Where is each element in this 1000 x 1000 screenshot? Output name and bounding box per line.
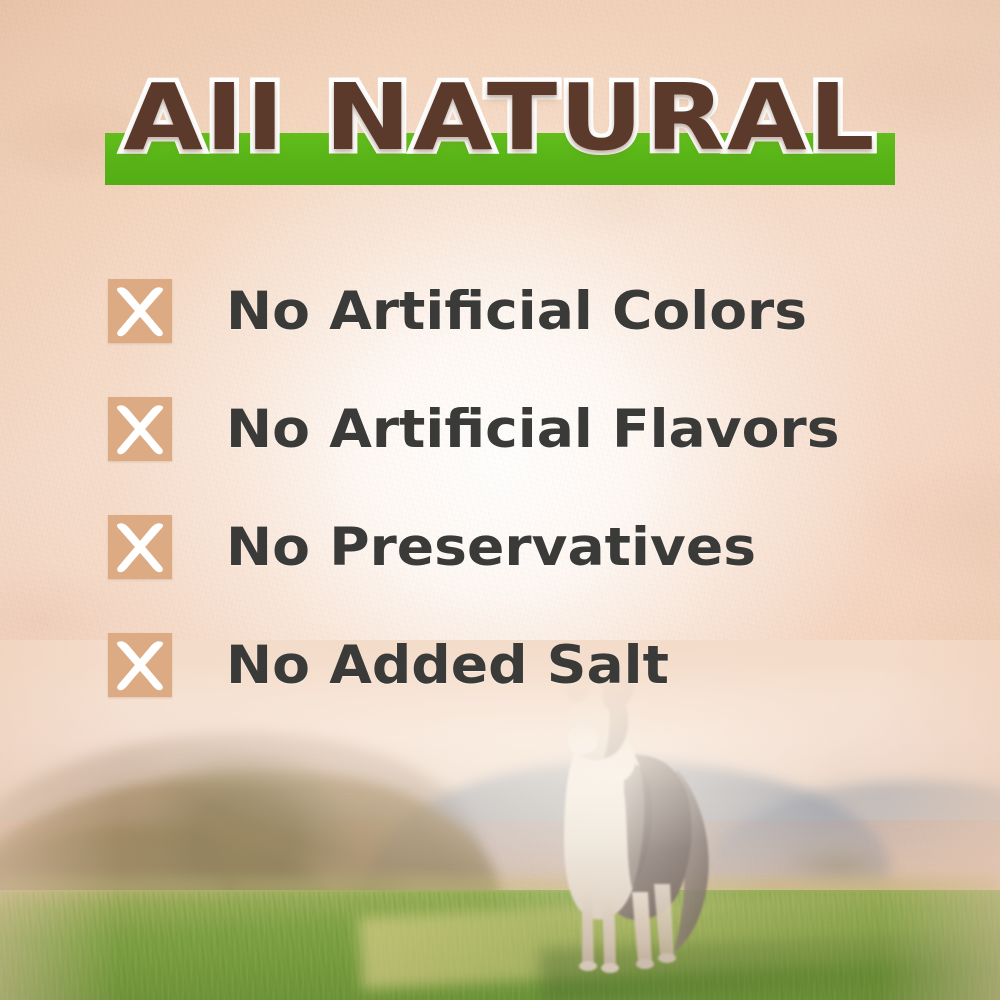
x-mark-icon <box>108 279 172 343</box>
x-mark-icon <box>108 515 172 579</box>
feature-label: No Artificial Colors <box>226 285 807 338</box>
feature-label: No Added Salt <box>226 639 669 692</box>
feature-list: No Artificial Colors No Artificial Flavo… <box>108 252 908 724</box>
feature-row: No Artificial Colors <box>108 252 908 370</box>
feature-row: No Added Salt <box>108 606 908 724</box>
all-natural-poster: AII NATURAL No Artificial Colors No Arti… <box>0 0 1000 1000</box>
feature-label: No Preservatives <box>226 521 756 574</box>
x-mark-icon <box>108 633 172 697</box>
feature-label: No Artificial Flavors <box>226 403 840 456</box>
feature-row: No Artificial Flavors <box>108 370 908 488</box>
x-mark-icon <box>108 397 172 461</box>
feature-row: No Preservatives <box>108 488 908 606</box>
poster-title: AII NATURAL <box>0 66 1000 170</box>
